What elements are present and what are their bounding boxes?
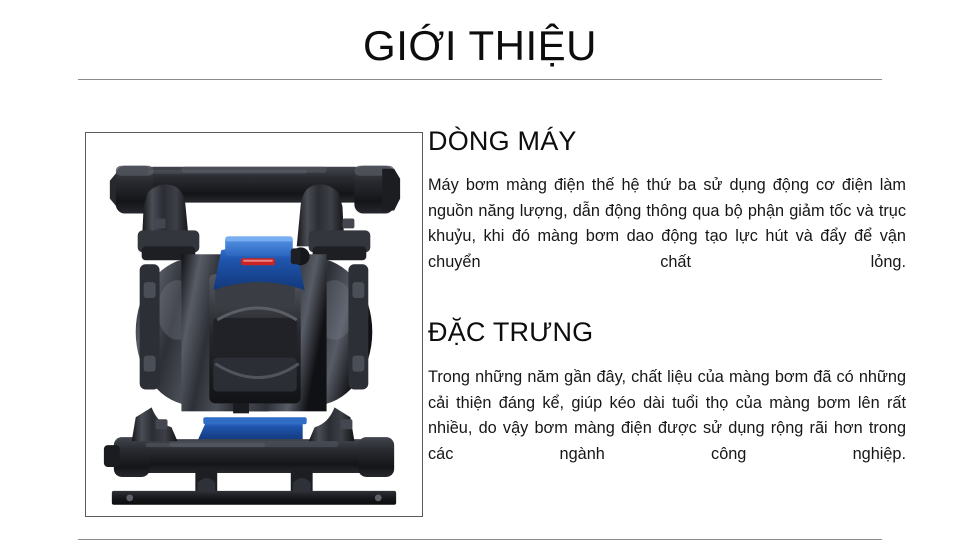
- section-body-dac-trung: Trong những năm gần đây, chất liệu của m…: [428, 365, 906, 493]
- title-underline-divider: [78, 79, 882, 80]
- product-image-frame: [85, 132, 423, 517]
- section-heading-dong-may: DÒNG MÁY: [428, 124, 906, 158]
- footer-divider: [78, 539, 882, 540]
- section-heading-dac-trung: ĐẶC TRƯNG: [428, 315, 906, 349]
- diaphragm-pump-photo: [86, 133, 422, 516]
- page-title: GIỚI THIỆU: [0, 22, 960, 70]
- section-body-dong-may: Máy bơm màng điện thế hệ thứ ba sử dụng …: [428, 173, 906, 301]
